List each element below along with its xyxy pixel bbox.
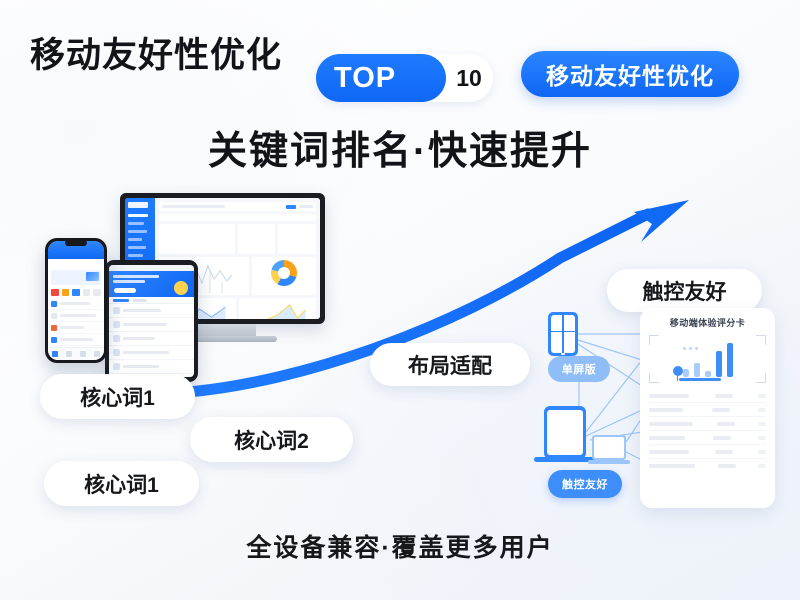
list-item bbox=[48, 310, 104, 322]
tablet-hero-emblem bbox=[174, 281, 188, 295]
device-mockup-cluster bbox=[30, 193, 330, 398]
table-row bbox=[649, 459, 766, 472]
list-item bbox=[109, 346, 194, 360]
poster-canvas: 移动友好性优化 TOP 10 移动友好性优化 关键词排名·快速提升 bbox=[0, 0, 800, 600]
diagram-single-screen-pill: 单屏版 bbox=[548, 356, 610, 382]
table-row bbox=[649, 389, 766, 403]
phone-banner bbox=[51, 270, 101, 285]
table-row bbox=[649, 431, 766, 445]
tablet-hero-banner bbox=[109, 271, 194, 297]
banner-card-icon bbox=[86, 272, 99, 281]
dashboard-card bbox=[278, 224, 316, 254]
list-item bbox=[109, 332, 194, 346]
list-item bbox=[109, 318, 194, 332]
diagram-tablet-icon bbox=[544, 406, 586, 459]
keyword-pill-1[interactable]: 核心词1 bbox=[40, 374, 195, 419]
list-item bbox=[48, 334, 104, 346]
sidebar-nav-item bbox=[128, 254, 143, 257]
mobile-score-card: 移动端体验评分卡 bbox=[640, 308, 775, 508]
list-item bbox=[48, 298, 104, 310]
phone-mockup bbox=[45, 238, 107, 363]
phone-tabbar[interactable] bbox=[48, 347, 104, 360]
tablet-mockup bbox=[105, 260, 198, 382]
location-pin-icon bbox=[673, 366, 683, 376]
table-row bbox=[649, 445, 766, 459]
score-card-chart bbox=[649, 335, 766, 383]
diagram-touch-friendly-pill: 触控友好 bbox=[548, 470, 622, 498]
tablet-screen bbox=[109, 265, 194, 377]
diagram-laptop-icon bbox=[592, 435, 626, 460]
keyword-pill-3[interactable]: 核心词1 bbox=[44, 461, 199, 506]
tablet-tabbar[interactable] bbox=[109, 297, 194, 304]
score-card-title: 移动端体验评分卡 bbox=[649, 316, 766, 329]
diagram-small-phone-icon bbox=[548, 312, 578, 356]
sidebar-nav-item bbox=[128, 230, 147, 233]
dashboard-logo-icon bbox=[128, 202, 148, 208]
dashboard-topbar bbox=[159, 202, 316, 211]
phone-screen bbox=[48, 241, 104, 360]
table-row bbox=[649, 417, 766, 431]
donut-chart-icon bbox=[271, 260, 297, 286]
layout-adapt-pill[interactable]: 布局适配 bbox=[370, 343, 530, 386]
chart-bars bbox=[683, 343, 733, 377]
phone-notch bbox=[65, 240, 87, 246]
dashboard-card bbox=[159, 224, 235, 254]
sidebar-nav-item bbox=[128, 222, 144, 225]
search-input[interactable] bbox=[52, 261, 100, 268]
diagram-laptop-base bbox=[588, 460, 630, 464]
device-connection-diagram: 单屏版 触控友好 移动端体验评分卡 bbox=[530, 300, 780, 515]
list-item bbox=[109, 360, 194, 374]
footer-caption: 全设备兼容·覆盖更多用户 bbox=[0, 528, 800, 564]
sidebar-nav-item bbox=[128, 246, 146, 249]
monitor-stand bbox=[188, 324, 256, 336]
list-item bbox=[109, 304, 194, 318]
dashboard-area-chart bbox=[239, 298, 316, 319]
list-item bbox=[48, 322, 104, 334]
table-row bbox=[649, 403, 766, 417]
sidebar-nav-item bbox=[128, 238, 142, 241]
keyword-pill-2[interactable]: 核心词2 bbox=[190, 417, 353, 462]
dashboard-donut-chart bbox=[252, 257, 316, 295]
dashboard-breadcrumb bbox=[159, 214, 316, 221]
phone-quick-icons[interactable] bbox=[48, 287, 104, 298]
sidebar-nav-item bbox=[128, 214, 148, 217]
diagram-tablet-base bbox=[534, 457, 596, 462]
tablet-cta-button[interactable] bbox=[114, 288, 136, 293]
dashboard-card bbox=[238, 224, 276, 254]
